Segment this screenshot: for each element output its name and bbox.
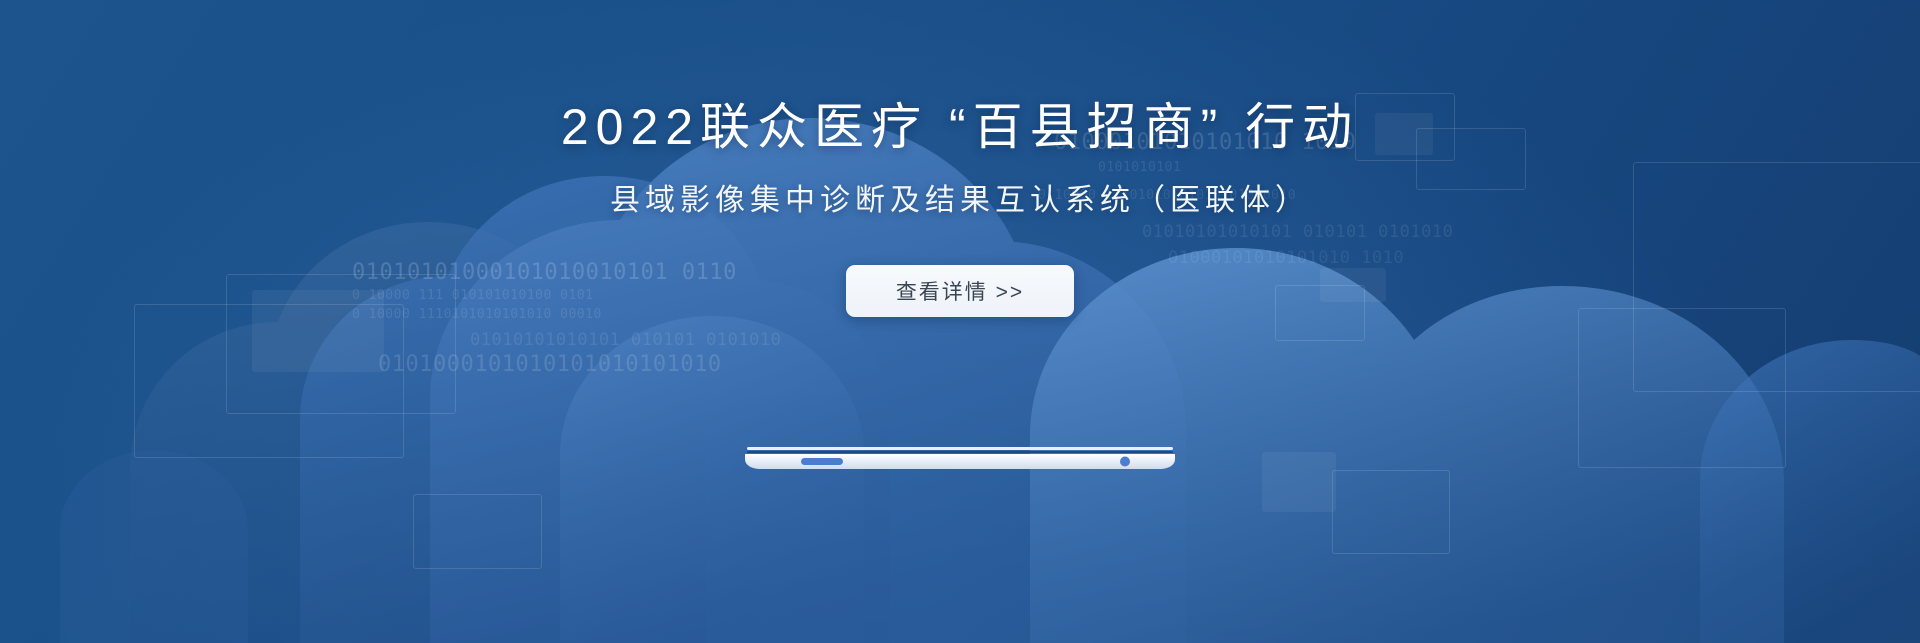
device-status-dot [1120, 457, 1130, 467]
banner-content: 2022联众医疗 “百县招商” 行动 县域影像集中诊断及结果互认系统（医联体） … [0, 0, 1920, 643]
device-indicator-pill [801, 458, 843, 465]
view-details-button[interactable]: 查看详情 >> [846, 265, 1074, 317]
laptop-base [745, 447, 1175, 473]
promo-banner: 01010101000101010010101 0110 0 10000 111… [0, 0, 1920, 643]
page-title: 2022联众医疗 “百县招商” 行动 [561, 98, 1359, 157]
page-subtitle: 县域影像集中诊断及结果互认系统（医联体） [610, 183, 1310, 219]
laptop-base-svg [745, 447, 1175, 473]
